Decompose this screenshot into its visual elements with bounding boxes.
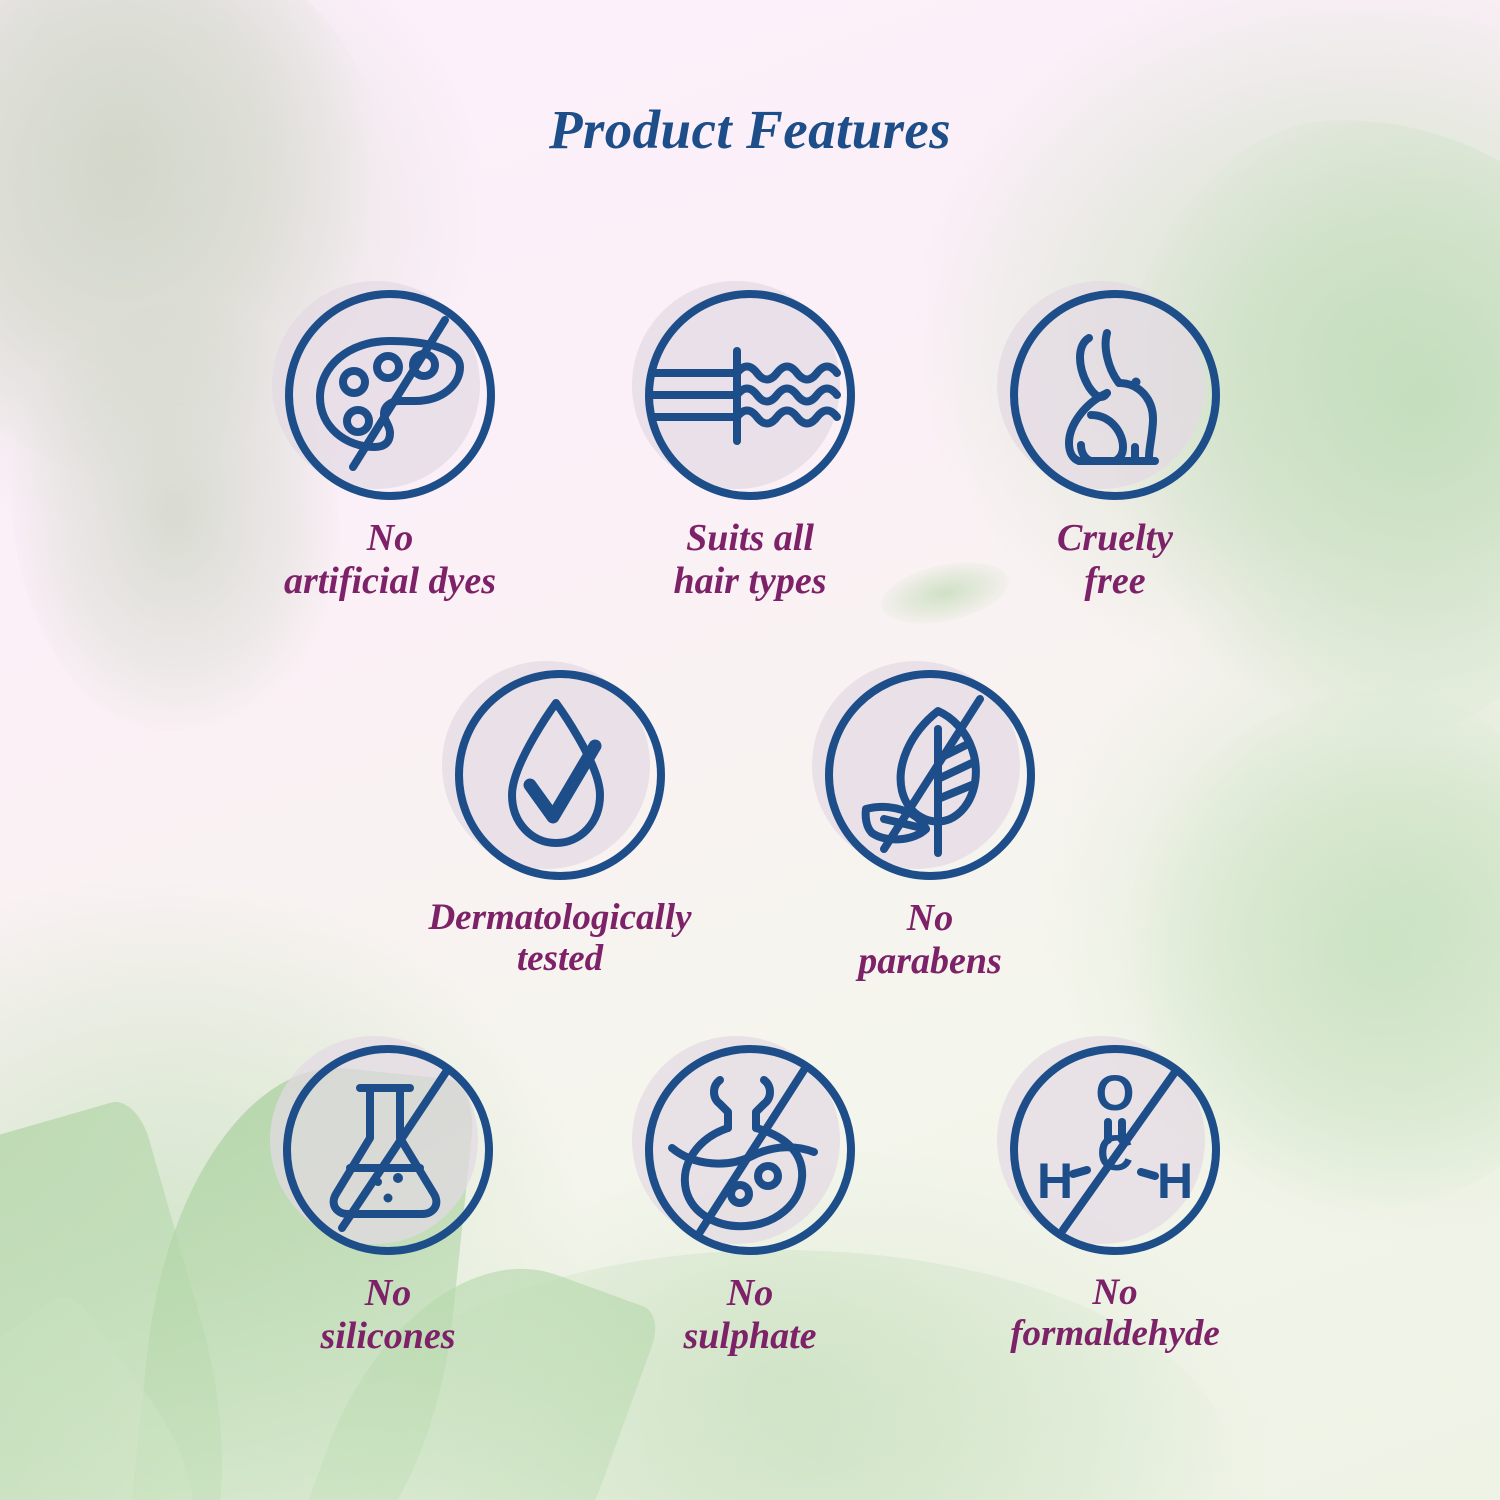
svg-text:O: O [1096, 1065, 1135, 1121]
feature-label: No silicones [223, 1272, 553, 1357]
badge-cruelty-free [1007, 287, 1223, 503]
product-features-poster: Product Features No artificial dyes [0, 0, 1500, 1500]
svg-text:H: H [1157, 1153, 1193, 1209]
feature-dermatologically-tested: Dermatologically tested [395, 667, 725, 980]
droplet-checkmark-icon [452, 667, 668, 883]
round-flask-slashed-icon [642, 1042, 858, 1258]
feature-label: No parabens [765, 897, 1095, 982]
feature-no-artificial-dyes: No artificial dyes [225, 287, 555, 602]
feature-label: Dermatologically tested [395, 897, 725, 980]
feature-suits-all-hair-types: Suits all hair types [585, 287, 915, 602]
svg-text:C: C [1097, 1125, 1133, 1181]
feature-label: No artificial dyes [225, 517, 555, 602]
badge-no-parabens [822, 667, 1038, 883]
badge-no-silicones [280, 1042, 496, 1258]
feature-label: Suits all hair types [585, 517, 915, 602]
page-title: Product Features [0, 98, 1500, 161]
formaldehyde-molecule-slashed-icon: O C H H [1007, 1042, 1223, 1258]
badge-dermatologically-tested [452, 667, 668, 883]
badge-no-formaldehyde: O C H H [1007, 1042, 1223, 1258]
palette-slashed-icon [282, 287, 498, 503]
leaf-slashed-icon [822, 667, 1038, 883]
feature-no-sulphate: No sulphate [585, 1042, 915, 1357]
svg-text:H: H [1037, 1153, 1073, 1209]
hair-strands-straight-to-wavy-icon [642, 287, 858, 503]
rabbit-icon [1007, 287, 1223, 503]
badge-no-sulphate [642, 1042, 858, 1258]
badge-no-artificial-dyes [282, 287, 498, 503]
erlenmeyer-flask-slashed-icon [280, 1042, 496, 1258]
badge-suits-all-hair-types [642, 287, 858, 503]
feature-label: Cruelty free [950, 517, 1280, 602]
feature-cruelty-free: Cruelty free [950, 287, 1280, 602]
feature-label: No sulphate [585, 1272, 915, 1357]
feature-no-silicones: No silicones [223, 1042, 553, 1357]
feature-label: No formaldehyde [950, 1272, 1280, 1355]
feature-no-formaldehyde: O C H H No formaldehyde [950, 1042, 1280, 1355]
feature-no-parabens: No parabens [765, 667, 1095, 982]
